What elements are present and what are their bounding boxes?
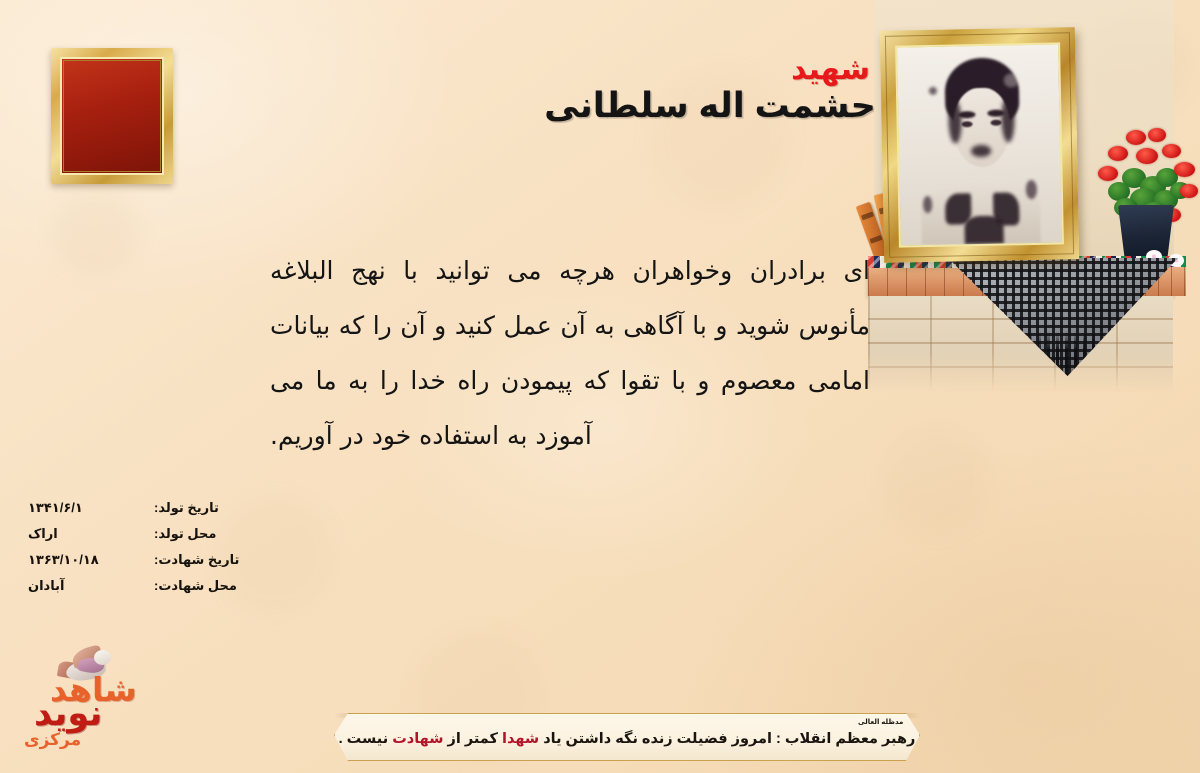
info-row-birth-place: محل تولد: اراک — [22, 526, 262, 552]
quote-middle: کمتر از — [443, 731, 502, 747]
quote-superscript: مدظله العالی — [858, 718, 903, 726]
martyr-portrait-photo — [895, 42, 1064, 247]
martyr-portrait-frame — [880, 27, 1079, 263]
martyr-will-text: ای برادران وخواهران هرچه می توانید با نه… — [270, 243, 870, 463]
info-row-martyrdom-place: محل شهادت: آبادان — [22, 578, 262, 604]
logo-subtitle: مرکزی — [24, 730, 81, 750]
quote-suffix: نیست . — [339, 731, 393, 747]
info-label: محل شهادت: — [154, 578, 262, 594]
quote-prefix: رهبر معظم انقلاب : امروز فضیلت زنده نگه … — [539, 731, 915, 747]
info-label: تاریخ شهادت: — [154, 552, 262, 568]
info-label: تاریخ تولد: — [154, 500, 262, 516]
leaders-portrait-frame — [51, 48, 173, 184]
quote-highlight-shahadat: شهادت — [392, 731, 443, 747]
quote-highlight-shohada: شهدا — [502, 731, 539, 747]
navid-shahed-logo[interactable]: شاهد نوید مرکزی — [20, 646, 148, 758]
info-label: محل تولد: — [154, 526, 262, 542]
leaders-portrait-image — [60, 57, 164, 175]
info-value: ۱۳۶۳/۱۰/۱۸ — [22, 552, 154, 568]
info-row-birth-date: تاریخ تولد: ۱۳۴۱/۶/۱ — [22, 500, 262, 526]
flower-pot — [1118, 205, 1174, 259]
leader-quote-banner: مدظله العالیرهبر معظم انقلاب : امروز فضی… — [334, 713, 920, 761]
memorial-scene — [860, 0, 1200, 420]
logo-word-navid: نوید — [34, 694, 102, 734]
info-value: آبادان — [22, 578, 154, 594]
shahid-label: شهید — [791, 52, 870, 87]
memorial-poster: شهید حشمت اله سلطانی ای برادران وخواهران… — [0, 0, 1200, 773]
leader-quote-text: مدظله العالیرهبر معظم انقلاب : امروز فضی… — [339, 727, 916, 747]
martyr-name-title: حشمت اله سلطانی — [510, 86, 910, 126]
info-value: ۱۳۴۱/۶/۱ — [22, 500, 154, 516]
martyr-info-block: تاریخ تولد: ۱۳۴۱/۶/۱ محل تولد: اراک تاری… — [22, 500, 262, 604]
info-row-martyrdom-date: تاریخ شهادت: ۱۳۶۳/۱۰/۱۸ — [22, 552, 262, 578]
info-value: اراک — [22, 526, 154, 542]
